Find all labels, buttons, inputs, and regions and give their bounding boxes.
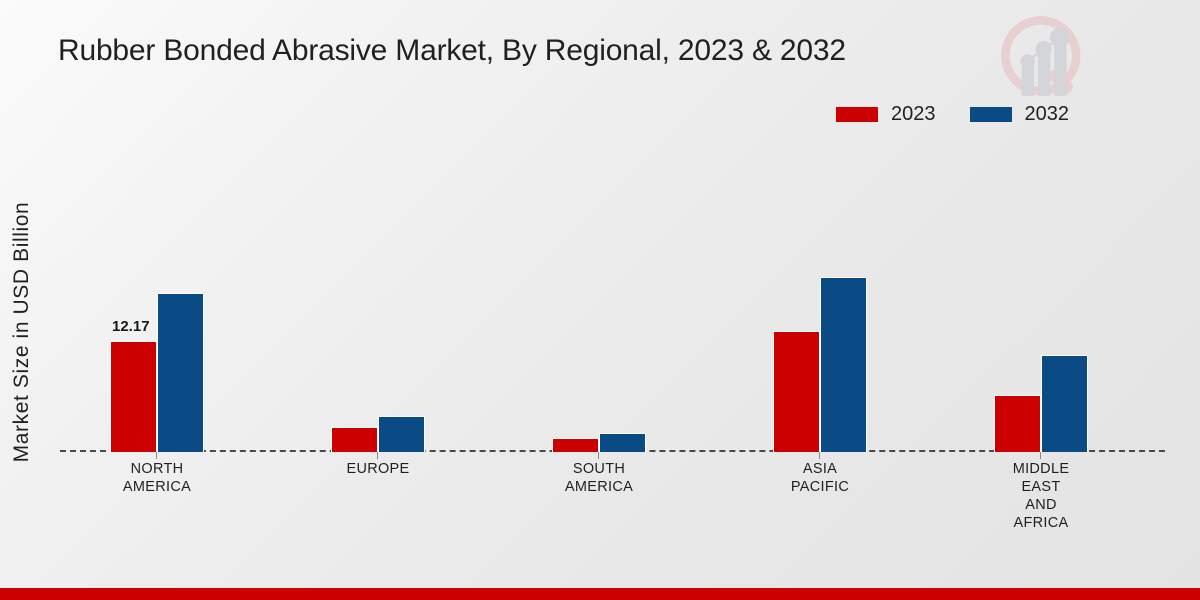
category-line: NORTH: [77, 460, 237, 478]
category-line: EUROPE: [298, 460, 458, 478]
legend-item-2032[interactable]: 2032: [970, 104, 1070, 124]
category-line: AFRICA: [961, 514, 1121, 532]
category-label-south-america: SOUTH AMERICA: [519, 460, 679, 496]
y-axis-title: Market Size in USD Billion: [10, 162, 34, 502]
axis-tick: [377, 452, 378, 459]
plot-area: 12.17 NORTH AMERICA EUROPE: [60, 150, 1165, 452]
bar-2032-north-america[interactable]: [157, 293, 204, 452]
category-line: AND: [961, 496, 1121, 514]
category-line: ASIA: [740, 460, 900, 478]
category-line: PACIFIC: [740, 478, 900, 496]
chart-title: Rubber Bonded Abrasive Market, By Region…: [58, 34, 846, 68]
category-label-north-america: NORTH AMERICA: [77, 460, 237, 496]
legend-swatch-2032: [970, 107, 1012, 122]
bar-2032-middle-east-and-africa[interactable]: [1041, 355, 1088, 452]
watermark-logo-icon: [995, 8, 1100, 113]
bar-2032-south-america[interactable]: [599, 433, 646, 452]
axis-tick: [1040, 452, 1041, 459]
category-line: AMERICA: [519, 478, 679, 496]
legend-item-2023[interactable]: 2023: [836, 104, 936, 124]
legend-swatch-2023: [836, 107, 878, 122]
category-label-asia-pacific: ASIA PACIFIC: [740, 460, 900, 496]
bar-2032-asia-pacific[interactable]: [820, 277, 867, 452]
category-line: AMERICA: [77, 478, 237, 496]
chart-canvas: Rubber Bonded Abrasive Market, By Region…: [0, 0, 1200, 600]
category-label-europe: EUROPE: [298, 460, 458, 478]
category-line: SOUTH: [519, 460, 679, 478]
bottom-accent-bar: [0, 588, 1200, 600]
bar-2023-middle-east-and-africa[interactable]: [994, 395, 1041, 452]
category-label-middle-east-and-africa: MIDDLE EAST AND AFRICA: [961, 460, 1121, 532]
category-line: EAST: [961, 478, 1121, 496]
chart-legend: 2023 2032: [836, 104, 1069, 124]
axis-tick: [819, 452, 820, 459]
bar-2023-north-america[interactable]: [110, 341, 157, 452]
legend-label-2032: 2032: [1025, 104, 1070, 124]
bar-2023-europe[interactable]: [331, 427, 378, 452]
bar-2023-south-america[interactable]: [552, 438, 599, 452]
legend-label-2023: 2023: [891, 104, 936, 124]
value-label-north-america-2023: 12.17: [112, 318, 150, 335]
bar-2032-europe[interactable]: [378, 416, 425, 452]
bar-2023-asia-pacific[interactable]: [773, 331, 820, 452]
category-line: MIDDLE: [961, 460, 1121, 478]
axis-tick: [156, 452, 157, 459]
axis-tick: [598, 452, 599, 459]
